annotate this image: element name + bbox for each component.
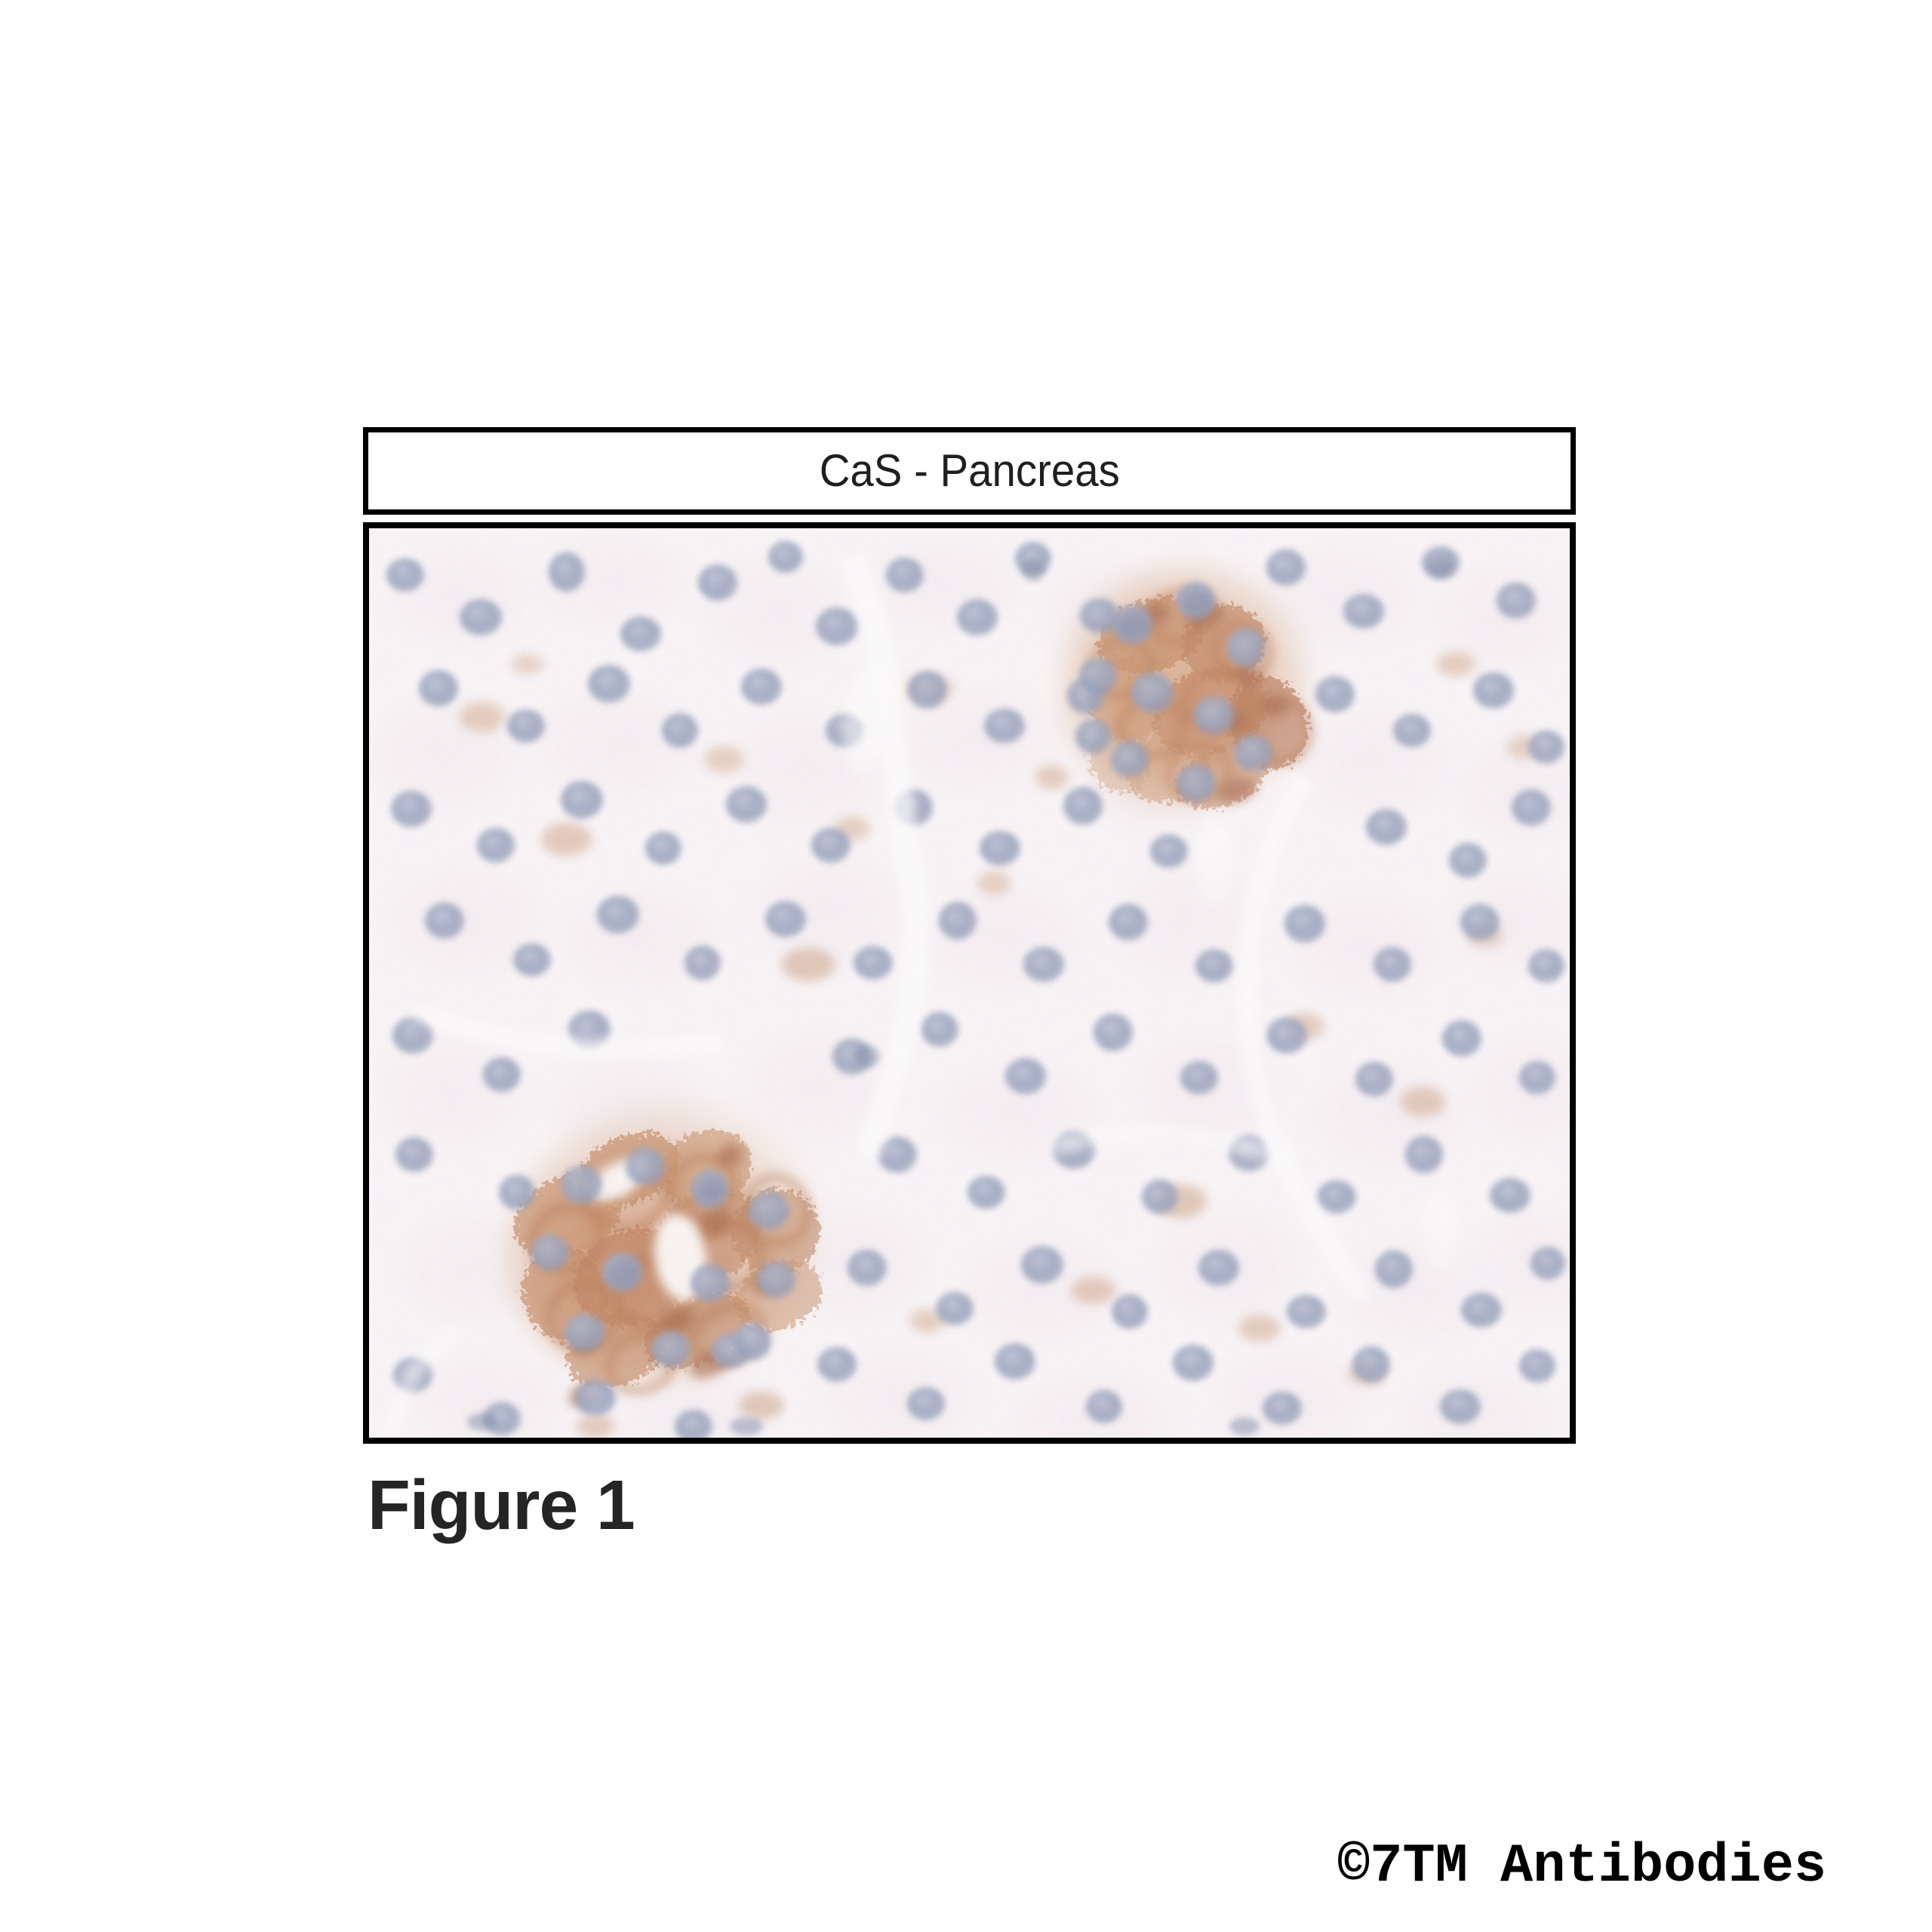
figure-panel: CaS - Pancreas	[363, 427, 1576, 1444]
figure-caption-label: Figure 1	[368, 1470, 635, 1540]
panel-title-label: CaS - Pancreas	[819, 448, 1119, 494]
micrograph-frame	[363, 522, 1576, 1444]
panel-title-bar: CaS - Pancreas	[363, 427, 1576, 515]
copyright-watermark: ©7TM Antibodies	[1337, 1839, 1826, 1894]
micrograph-image	[369, 528, 1570, 1438]
